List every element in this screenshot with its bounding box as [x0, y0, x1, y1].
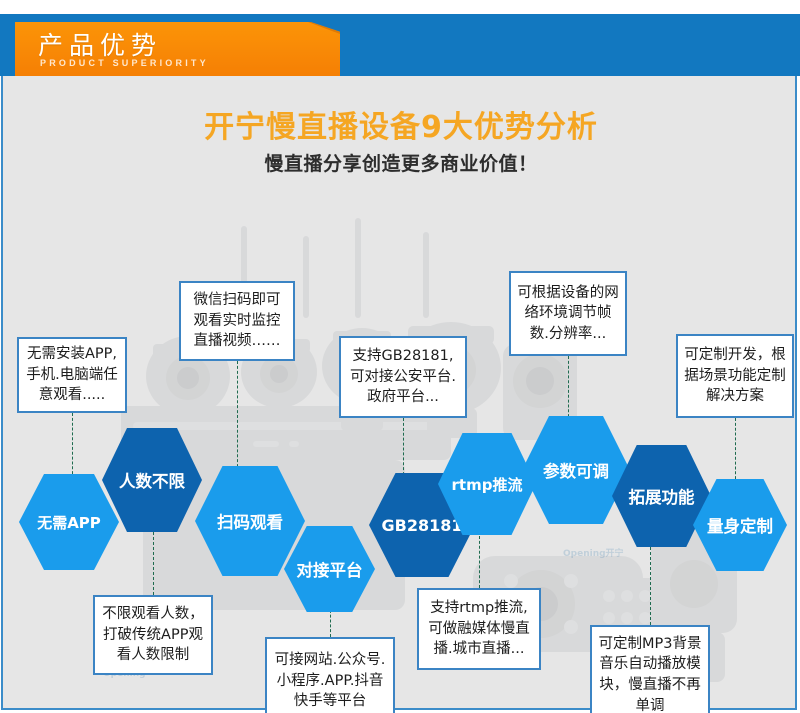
connector-line	[72, 413, 73, 479]
hexagon-label: 扫码观看	[217, 509, 283, 533]
callout-text: 不限观看人数，打破传统APP观看人数限制	[101, 604, 205, 666]
callout-text: 微信扫码即可观看实时监控直播视频……	[187, 290, 287, 352]
callout-text: 可接网站.公众号.小程序.APP.抖音快手等平台	[273, 650, 387, 712]
callout-wechat-scan: 微信扫码即可观看实时监控直播视频……	[179, 281, 295, 361]
header-title-en: PRODUCT SUPERIORITY	[40, 58, 209, 68]
callout-rtmp: 支持rtmp推流,可做融媒体慢直播.城市直播...	[417, 588, 541, 670]
callout-no-app: 无需安装APP,手机.电脑端任意观看.....	[17, 337, 127, 413]
svg-text:Opening开宁: Opening开宁	[563, 547, 624, 559]
callout-text: 可定制MP3背景音乐自动播放模块，慢直播不再单调	[598, 634, 702, 713]
hexagon-label: 对接平台	[297, 557, 363, 581]
page-subtitle: 慢直播分享创造更多商业价值！	[3, 149, 799, 176]
hexagon-label: 拓展功能	[629, 484, 695, 508]
callout-text: 支持GB28181,可对接公安平台.政府平台...	[347, 346, 459, 408]
connector-line	[568, 356, 569, 422]
hexagon-label: 无需APP	[37, 512, 101, 533]
content-panel: Opening开宁 Opening开宁 Opening开宁 Opening 开宁…	[1, 76, 797, 710]
callout-gb28181: 支持GB28181,可对接公安平台.政府平台...	[339, 336, 467, 418]
connector-line	[403, 418, 404, 480]
page-root: 产品优势 PRODUCT SUPERIORITY	[0, 0, 800, 713]
hexagon-label: 参数可调	[543, 458, 609, 482]
callout-text: 可定制开发，根据场景功能定制解决方案	[684, 345, 786, 407]
callout-params: 可根据设备的网络环境调节帧数.分辨率...	[509, 271, 627, 356]
connector-line	[237, 361, 238, 472]
callout-mp3: 可定制MP3背景音乐自动播放模块，慢直播不再单调	[590, 625, 710, 713]
page-title: 开宁慢直播设备9大优势分析	[3, 102, 799, 146]
connector-line	[650, 547, 651, 625]
hexagon-label: 量身定制	[707, 513, 773, 537]
hexagon-label: GB28181	[382, 516, 463, 535]
callout-text: 支持rtmp推流,可做融媒体慢直播.城市直播...	[425, 598, 533, 660]
callout-viewers: 不限观看人数，打破传统APP观看人数限制	[93, 595, 213, 675]
connector-line	[735, 418, 736, 484]
callout-text: 无需安装APP,手机.电脑端任意观看.....	[25, 344, 119, 406]
callout-platforms: 可接网站.公众号.小程序.APP.抖音快手等平台	[265, 637, 395, 713]
connector-line	[153, 532, 154, 595]
hexagon-label: 人数不限	[119, 468, 185, 492]
hexagon-label: rtmp推流	[452, 474, 523, 495]
callout-text: 可根据设备的网络环境调节帧数.分辨率...	[517, 283, 619, 345]
header-title-cn: 产品优势	[38, 26, 162, 62]
connector-line	[479, 536, 480, 588]
callout-custom-dev: 可定制开发，根据场景功能定制解决方案	[676, 334, 794, 418]
